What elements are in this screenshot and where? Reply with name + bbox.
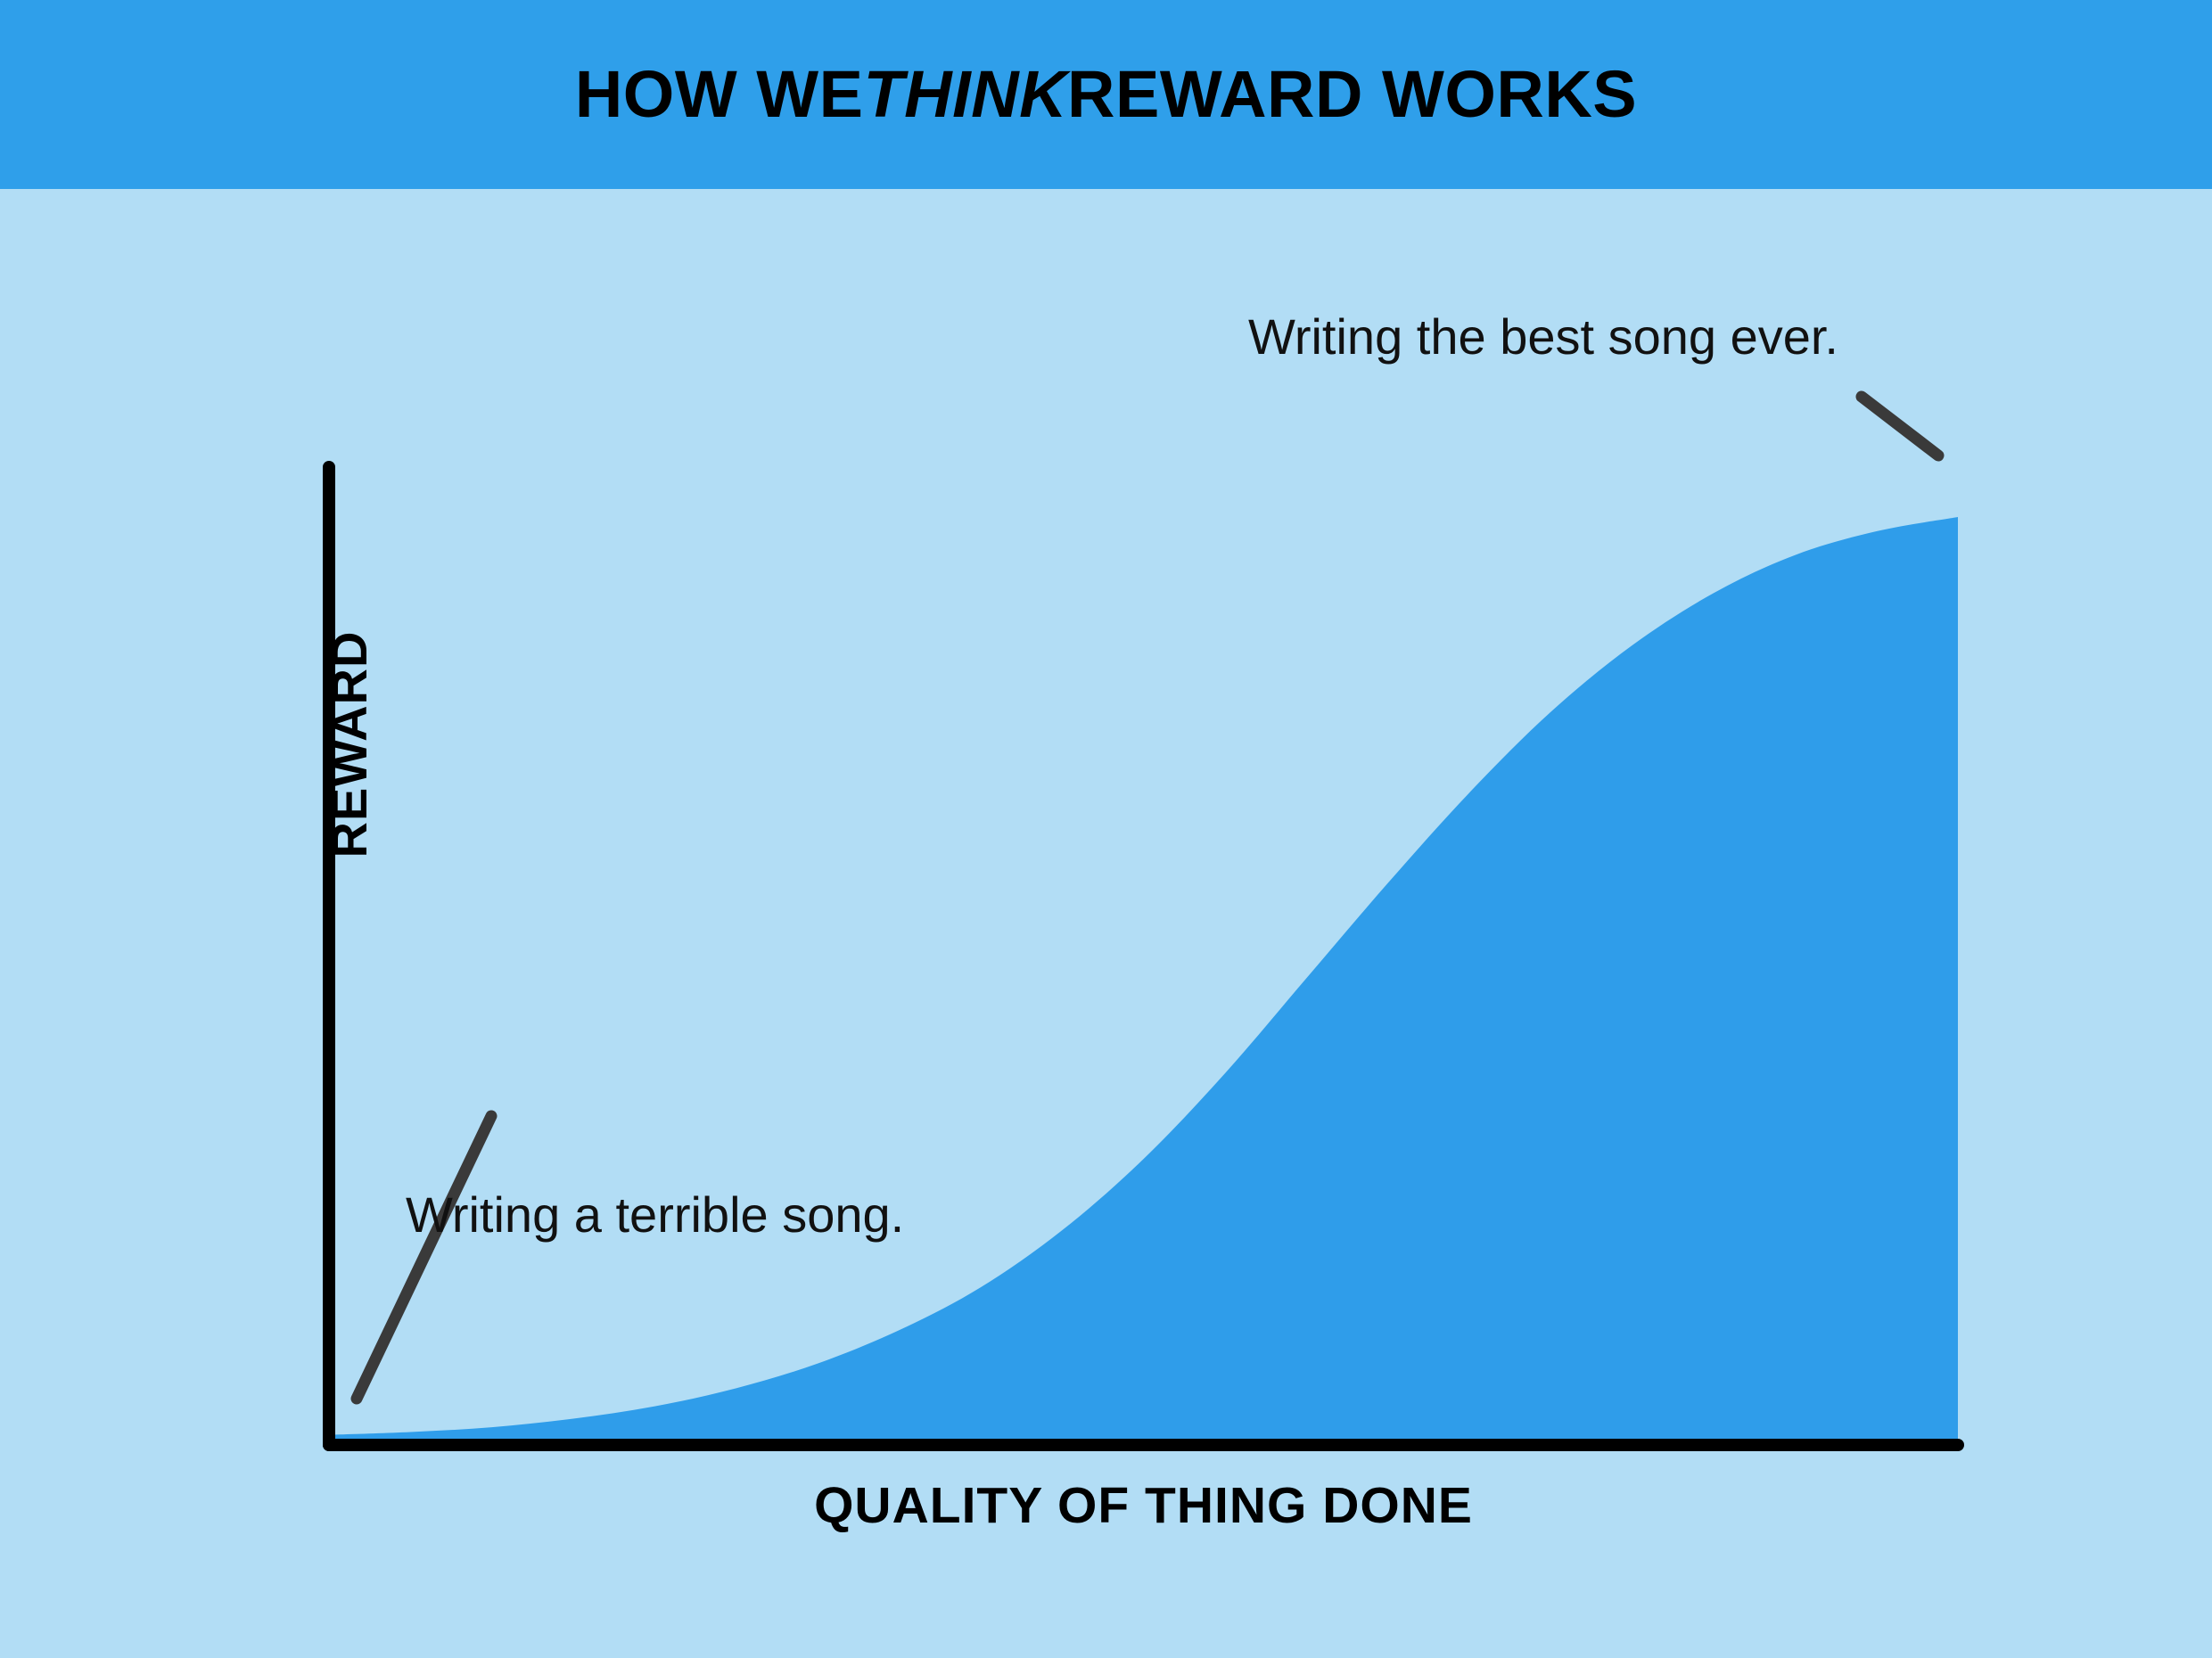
annotation-terrible-song: Writing a terrible song. [406,1190,904,1240]
page-title: HOW WE THINK REWARD WORKS [0,0,2212,189]
annotation-leader-line-low [357,1116,491,1399]
chart-area: REWARD QUALITY OF THING DONE Writing a t… [0,189,2212,1658]
y-axis-label: REWARD [325,557,374,932]
reward-curve-area [329,517,1958,1440]
page-title-emphasis: THINK [863,62,1067,127]
infographic-poster: HOW WE THINK REWARD WORKS REWARD QUALITY… [0,0,2212,1658]
annotation-best-song: Writing the best song ever. [1248,312,1838,362]
page-title-suffix: REWARD WORKS [1067,62,1637,127]
x-axis-label: QUALITY OF THING DONE [329,1481,1958,1531]
annotation-leader-line-high [1862,397,1938,456]
page-title-prefix: HOW WE [575,62,864,127]
